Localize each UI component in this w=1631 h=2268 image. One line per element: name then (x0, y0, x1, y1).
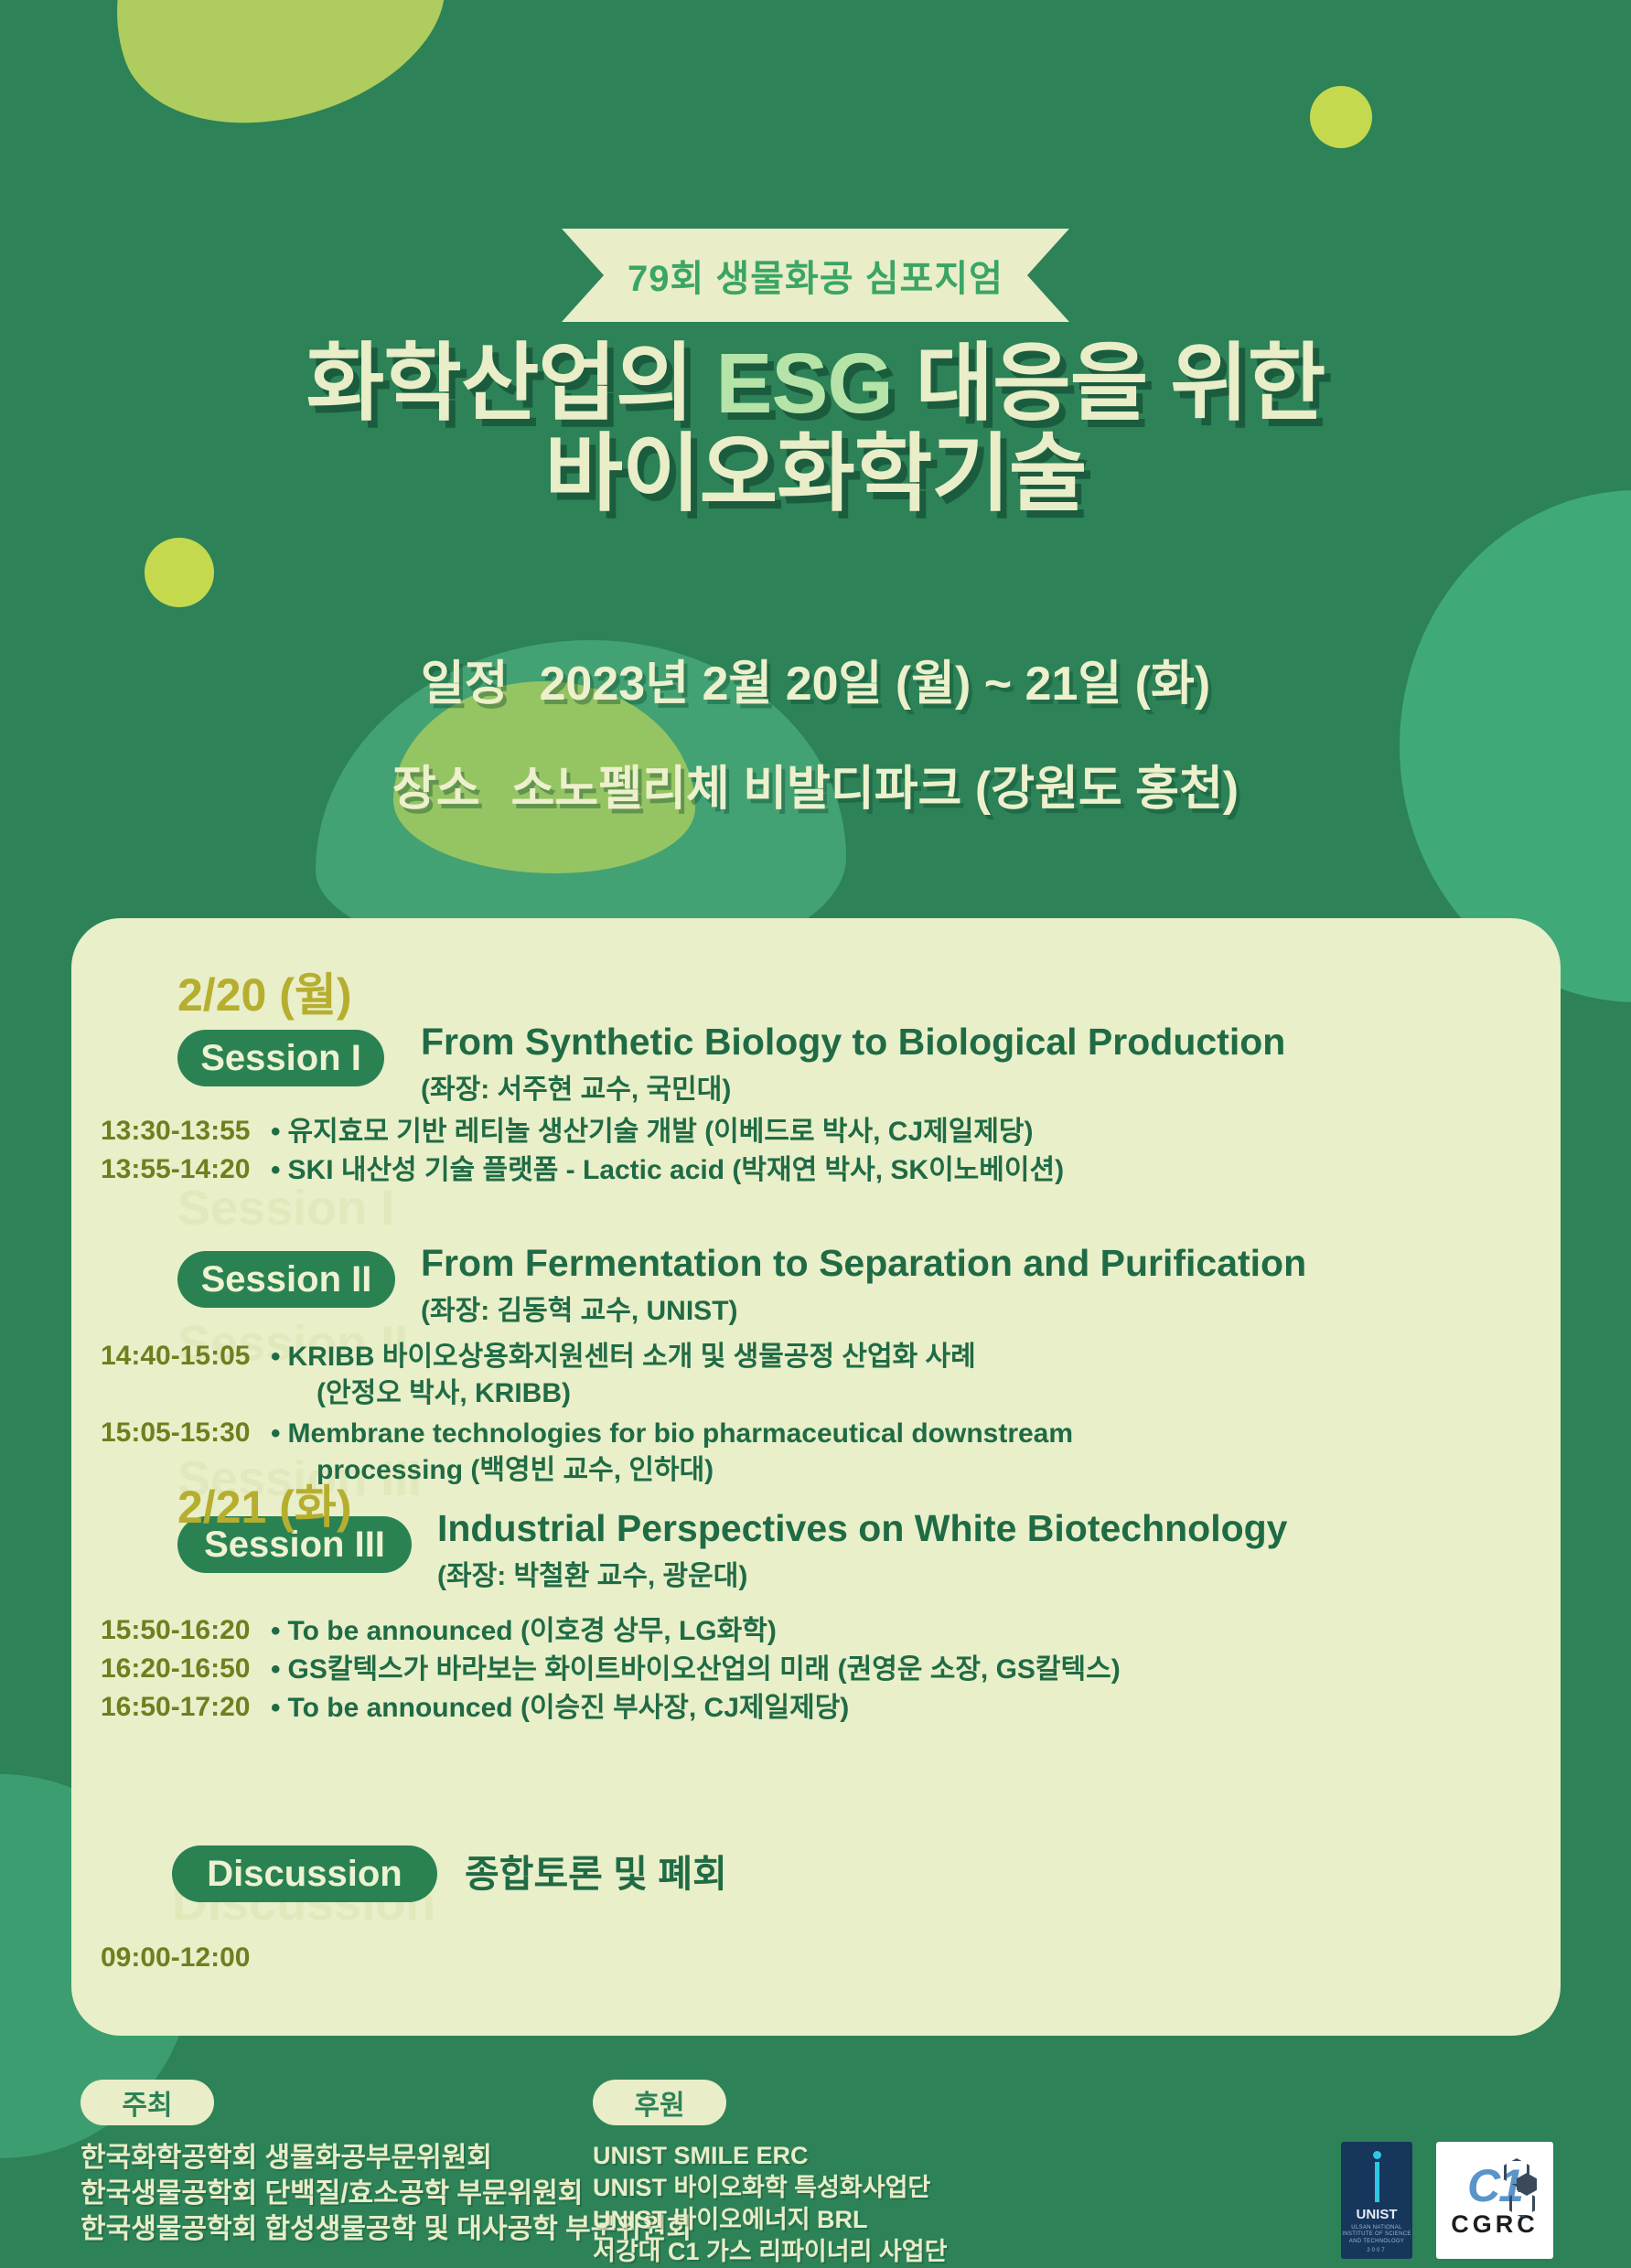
session-3-item-2-desc: •To be announced (이승진 부사장, CJ제일제당) (271, 1692, 849, 1724)
title-esg-highlight: ESG (715, 336, 892, 431)
session-1-title: From Synthetic Biology to Biological Pro… (421, 1022, 1285, 1062)
page-title: 화학산업의 ESG 대응을 위한 바이오화학기술 (0, 338, 1631, 519)
session-1-item-0-desc: •유지효모 기반 레티놀 생산기술 개발 (이베드로 박사, CJ제일제당) (271, 1116, 1034, 1148)
unist-logo-subtitle: ULSAN NATIONAL INSTITUTE OF SCIENCE AND … (1341, 2225, 1412, 2246)
lime-dot-left-icon (145, 538, 214, 607)
session-3-chair: (좌장: 박철환 교수, 광운대) (437, 1553, 747, 1593)
schedule-card: Session I Session II Session III Discuss… (71, 918, 1561, 2036)
bullet-icon: • (271, 1155, 281, 1185)
session-1-item-0: 13:30-13:55 •유지효모 기반 레티놀 생산기술 개발 (이베드로 박… (71, 1116, 1034, 1148)
session-1-item-1-time: 13:55-14:20 (71, 1154, 271, 1185)
session-3-item-2: 16:50-17:20 •To be announced (이승진 부사장, C… (71, 1692, 849, 1724)
discussion-pill[interactable]: Discussion (172, 1845, 437, 1902)
date-value: 2023년 2월 20일 (월) ~ 21일 (화) (540, 658, 1211, 711)
session-3-item-0-desc: •To be announced (이호경 상무, LG화학) (271, 1615, 777, 1647)
session-2-item-1: 15:05-15:30 •Membrane technologies for b… (71, 1417, 1073, 1450)
sponsor-item: UNIST 바이오에너지 BRL (593, 2204, 947, 2236)
ribbon-banner: 79회 생물화공 심포지엄 (0, 229, 1631, 322)
ghost-session-1: Session I (177, 1180, 394, 1236)
session-2-item-1-text: Membrane technologies for bio pharmaceut… (288, 1418, 1074, 1449)
ribbon-label: 79회 생물화공 심포지엄 (562, 229, 1069, 322)
date-label: 일정 (421, 658, 509, 711)
event-place-row: 장소소노펠리체 비발디파크 (강원도 홍천) (0, 750, 1631, 818)
unist-logo-name: UNIST (1357, 2207, 1398, 2222)
sponsor-item: UNIST SMILE ERC (593, 2140, 947, 2172)
sponsor-item: UNIST 바이오화학 특성화사업단 (593, 2172, 947, 2204)
session-1-item-1-text: SKI 내산성 기술 플랫폼 - Lactic acid (박재연 박사, SK… (288, 1155, 1065, 1185)
session-1-chair: (좌장: 서주현 교수, 국민대) (421, 1066, 731, 1107)
session-3-title: Industrial Perspectives on White Biotech… (437, 1509, 1288, 1548)
sponsor-item: 서강대 C1 가스 리파이너리 사업단 (593, 2236, 947, 2268)
session-2-item-0-desc: •KRIBB 바이오상용화지원센터 소개 및 생물공정 산업화 사례 (271, 1341, 976, 1373)
bullet-icon: • (271, 1693, 281, 1723)
title-line1-part-b: 대응을 위한 (893, 336, 1325, 431)
bullet-icon: • (271, 1117, 281, 1147)
session-2-chair: (좌장: 김동혁 교수, UNIST) (421, 1288, 738, 1328)
session-3-item-1-desc: •GS칼텍스가 바라보는 화이트바이오산업의 미래 (권영운 소장, GS칼텍스… (271, 1653, 1121, 1685)
day2-tag: 2/21 (화) (177, 1471, 352, 1536)
bullet-icon: • (271, 1342, 281, 1372)
day1-tag: 2/20 (월) (177, 958, 352, 1024)
sponsor-list: UNIST SMILE ERC UNIST 바이오화학 특성화사업단 UNIST… (593, 2140, 947, 2268)
unist-spark-icon (1373, 2151, 1381, 2159)
place-value: 소노펠리체 비발디파크 (강원도 홍천) (511, 763, 1239, 816)
session-1-item-0-time: 13:30-13:55 (71, 1116, 271, 1147)
place-label: 장소 (392, 763, 480, 816)
title-line2: 바이오화학기술 (0, 429, 1631, 519)
cgrc-logo: C1 CGRC (1436, 2142, 1553, 2259)
bullet-icon: • (271, 1654, 281, 1685)
session-1-item-1: 13:55-14:20 •SKI 내산성 기술 플랫폼 - Lactic aci… (71, 1154, 1064, 1186)
session-1-item-0-text: 유지효모 기반 레티놀 생산기술 개발 (이베드로 박사, CJ제일제당) (288, 1117, 1034, 1147)
discussion-title: 종합토론 및 폐회 (465, 1855, 727, 1894)
session-2-title: From Fermentation to Separation and Puri… (421, 1244, 1306, 1283)
session-1-pill[interactable]: Session I (177, 1030, 384, 1086)
sponsor-label: 후원 (593, 2080, 726, 2125)
host-label: 주최 (80, 2080, 214, 2125)
session-3-item-0-time: 15:50-16:20 (71, 1615, 271, 1646)
event-date-row: 일정2023년 2월 20일 (월) ~ 21일 (화) (0, 645, 1631, 713)
session-2-item-0-text: KRIBB 바이오상용화지원센터 소개 및 생물공정 산업화 사례 (288, 1342, 976, 1372)
session-3-item-2-text: To be announced (이승진 부사장, CJ제일제당) (288, 1693, 850, 1723)
session-1-item-1-desc: •SKI 내산성 기술 플랫폼 - Lactic acid (박재연 박사, S… (271, 1154, 1064, 1186)
unist-logo: UNIST ULSAN NATIONAL INSTITUTE OF SCIENC… (1341, 2142, 1412, 2259)
bullet-icon: • (271, 1616, 281, 1646)
unist-bar-icon (1375, 2162, 1379, 2202)
discussion-time: 09:00-12:00 (71, 1942, 271, 1974)
lime-blob-top-icon (73, 0, 471, 163)
session-2-item-1-time: 15:05-15:30 (71, 1417, 271, 1449)
session-2-item-0-time: 14:40-15:05 (71, 1341, 271, 1372)
session-3-item-1: 16:20-16:50 •GS칼텍스가 바라보는 화이트바이오산업의 미래 (권… (71, 1653, 1121, 1685)
sponsor-section: 후원 UNIST SMILE ERC UNIST 바이오화학 특성화사업단 UN… (593, 2080, 947, 2268)
session-2-item-0: 14:40-15:05 •KRIBB 바이오상용화지원센터 소개 및 생물공정 … (71, 1341, 976, 1373)
session-3-item-0-text: To be announced (이호경 상무, LG화학) (288, 1616, 777, 1646)
title-line1-part-a: 화학산업의 (306, 336, 716, 431)
session-2-item-1-desc: •Membrane technologies for bio pharmaceu… (271, 1417, 1073, 1450)
session-2-pill[interactable]: Session II (177, 1251, 395, 1308)
unist-logo-year: 2007 (1367, 2248, 1386, 2253)
session-3-item-2-time: 16:50-17:20 (71, 1692, 271, 1723)
session-3-item-1-time: 16:20-16:50 (71, 1653, 271, 1685)
lime-dot-right-icon (1310, 86, 1372, 148)
session-3-item-0: 15:50-16:20 •To be announced (이호경 상무, LG… (71, 1615, 777, 1647)
session-3-item-1-text: GS칼텍스가 바라보는 화이트바이오산업의 미래 (권영운 소장, GS칼텍스) (288, 1654, 1121, 1685)
session-2-item-0-cont: (안정오 박사, KRIBB) (71, 1377, 571, 1409)
bullet-icon: • (271, 1418, 281, 1449)
session-2-item-1-cont: processing (백영빈 교수, 인하대) (71, 1454, 714, 1486)
